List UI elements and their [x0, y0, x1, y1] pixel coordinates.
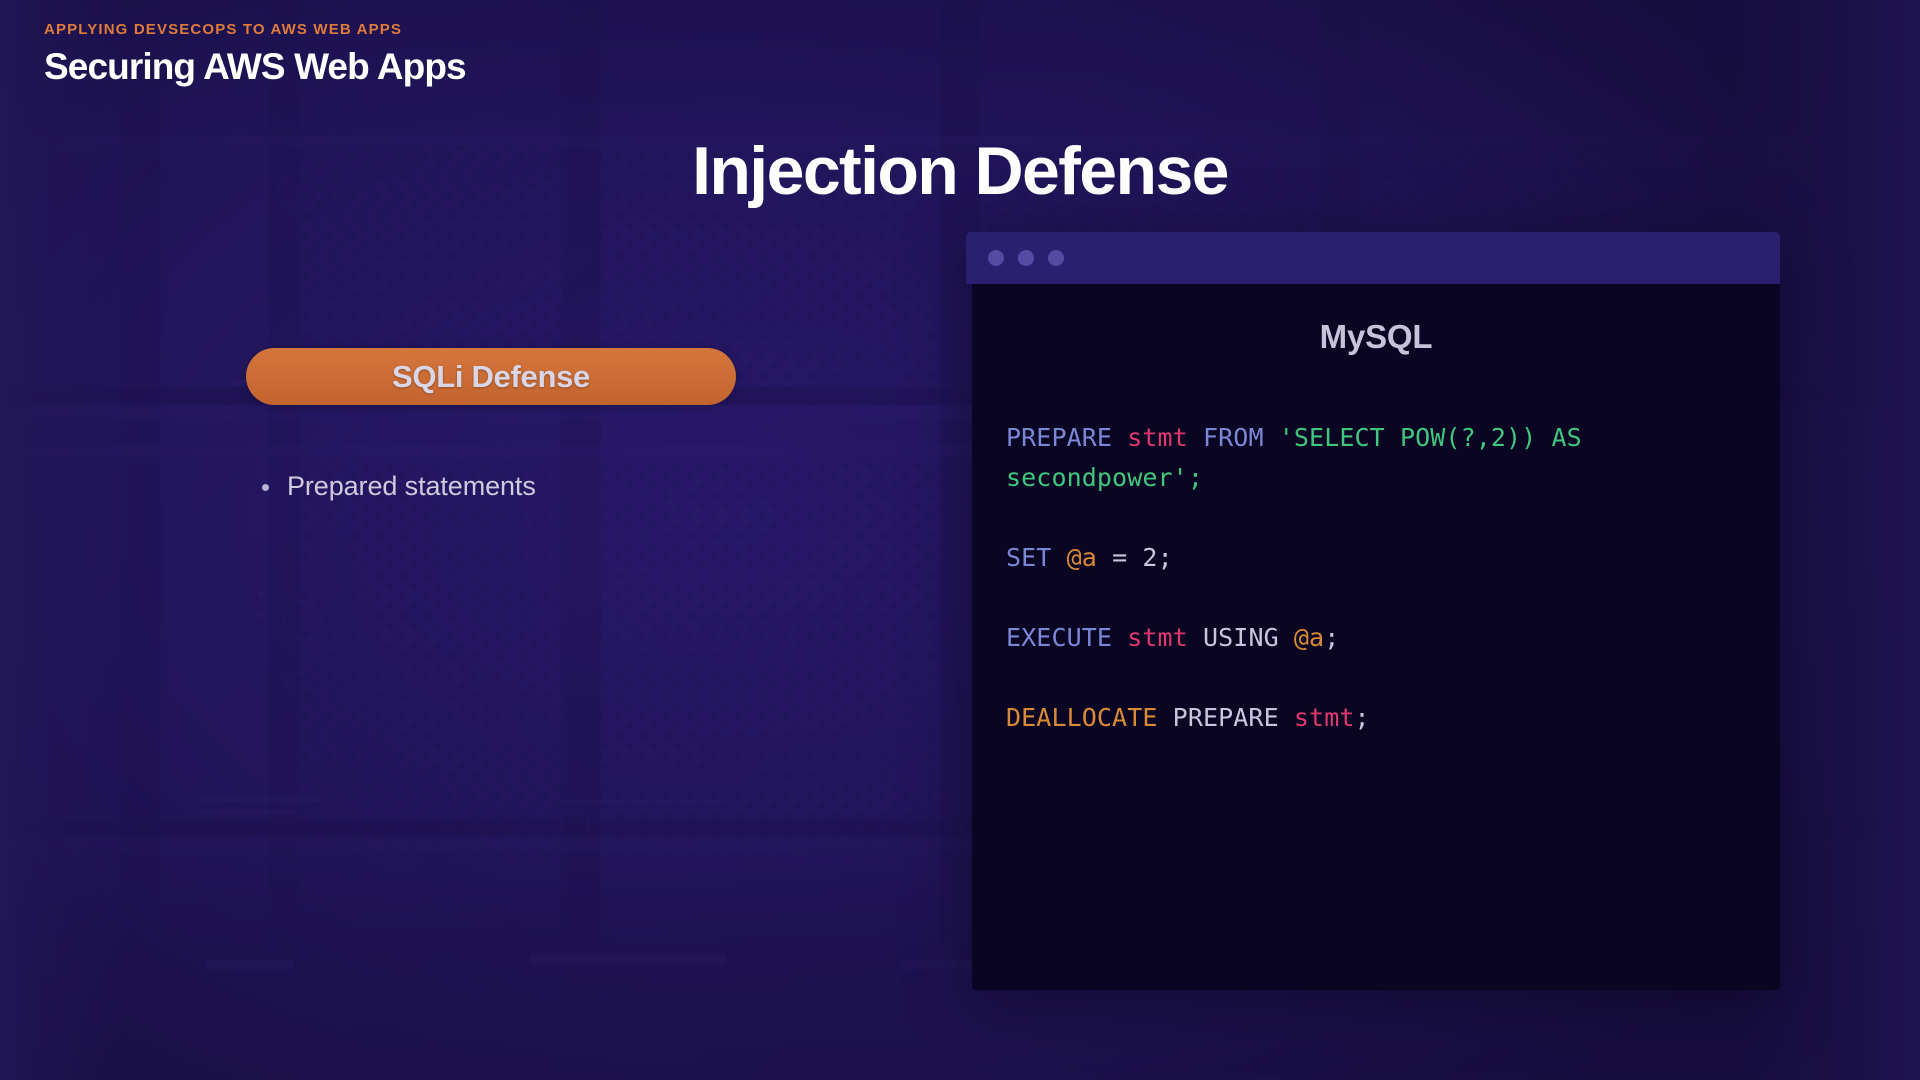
bullet-dot-icon [262, 484, 269, 491]
code-window-body: MySQL PREPARE stmt FROM 'SELECT POW(?,2)… [972, 284, 1780, 990]
code-window-titlebar [966, 232, 1780, 284]
code-token [1188, 423, 1203, 452]
deck-eyebrow-label: APPLYING DEVSECOPS TO AWS WEB APPS [44, 22, 466, 39]
line-deallocate: DEALLOCATE PREPARE stmt; [1006, 698, 1746, 738]
code-token [1188, 623, 1203, 652]
code-block: PREPARE stmt FROM 'SELECT POW(?,2)) AS s… [972, 418, 1780, 738]
code-token [1158, 703, 1173, 732]
left-content-column: SQLi Defense Prepared statements [246, 348, 746, 504]
code-blank-line [1006, 498, 1746, 538]
code-token: DEALLOCATE [1006, 703, 1158, 732]
code-token: FROM [1203, 423, 1264, 452]
code-token [1051, 543, 1066, 572]
line-set: SET @a = 2; [1006, 538, 1746, 578]
code-window-title: MySQL [972, 318, 1780, 356]
line-execute: EXECUTE stmt USING @a; [1006, 618, 1746, 658]
code-token [1279, 623, 1294, 652]
bullet-list: Prepared statements [246, 468, 746, 504]
code-token [1112, 423, 1127, 452]
code-window: MySQL PREPARE stmt FROM 'SELECT POW(?,2)… [966, 232, 1780, 990]
code-token: stmt [1127, 423, 1188, 452]
code-token: ; [1324, 623, 1339, 652]
code-token: PREPARE [1006, 423, 1112, 452]
code-token: stmt [1127, 623, 1188, 652]
list-item: Prepared statements [262, 468, 746, 504]
sqli-defense-pill-button[interactable]: SQLi Defense [246, 348, 736, 405]
deck-title: Securing AWS Web Apps [44, 48, 466, 87]
code-blank-line [1006, 658, 1746, 698]
window-dot-maximize-icon[interactable] [1048, 250, 1064, 266]
code-token: = [1097, 543, 1142, 572]
slide-header: APPLYING DEVSECOPS TO AWS WEB APPS Secur… [44, 22, 466, 86]
slide-root: APPLYING DEVSECOPS TO AWS WEB APPS Secur… [0, 0, 1920, 1080]
code-token [1279, 703, 1294, 732]
code-token: 2 [1142, 543, 1157, 572]
code-blank-line [1006, 578, 1746, 618]
code-token: ; [1355, 703, 1370, 732]
window-dot-minimize-icon[interactable] [1018, 250, 1034, 266]
code-token: stmt [1294, 703, 1355, 732]
page-title: Injection Defense [0, 132, 1920, 210]
code-token: @a [1294, 623, 1324, 652]
code-token: SET [1006, 543, 1051, 572]
code-token: USING [1203, 623, 1279, 652]
window-dot-close-icon[interactable] [988, 250, 1004, 266]
code-token: PREPARE [1173, 703, 1279, 732]
code-token: EXECUTE [1006, 623, 1112, 652]
code-token [1112, 623, 1127, 652]
list-item-label: Prepared statements [287, 468, 536, 504]
code-token: @a [1067, 543, 1097, 572]
sqli-defense-pill-label: SQLi Defense [392, 359, 590, 395]
code-token: ; [1158, 543, 1173, 572]
line-prepare: PREPARE stmt FROM 'SELECT POW(?,2)) AS s… [1006, 418, 1746, 498]
code-token [1264, 423, 1279, 452]
